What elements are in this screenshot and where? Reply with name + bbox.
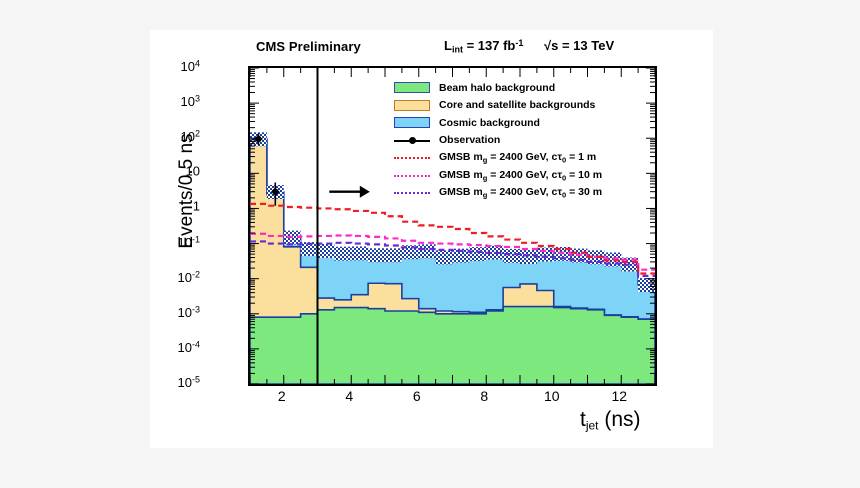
observation-point: [272, 188, 278, 194]
legend-swatch: [394, 117, 430, 128]
y-tick-label: 1: [193, 199, 200, 214]
y-tick-label: 10-4: [178, 339, 200, 355]
x-axis-title-sub: jet: [586, 419, 599, 433]
legend-item[interactable]: Cosmic background: [394, 114, 652, 132]
y-axis-title: Events/0.5 ns: [176, 91, 198, 291]
legend-item[interactable]: Beam halo background: [394, 79, 652, 97]
uncertainty-bin: [351, 246, 368, 260]
legend-item[interactable]: Observation: [394, 132, 652, 150]
uncertainty-bin: [334, 247, 351, 261]
legend-label: Cosmic background: [439, 117, 540, 129]
arrow-head: [360, 186, 370, 198]
uncertainty-bin: [469, 247, 486, 261]
y-tick-label: 10-3: [178, 304, 200, 320]
legend-marker-icon: [394, 135, 430, 146]
uncertainty-bin: [318, 244, 335, 258]
legend-dashed-line-icon: [394, 170, 430, 181]
x-tick-label: 12: [611, 388, 627, 404]
legend: Beam halo backgroundCore and satellite b…: [394, 79, 652, 202]
legend-label: Core and satellite backgrounds: [439, 99, 595, 111]
x-tick-label: 6: [413, 388, 421, 404]
y-tick-label: 103: [181, 93, 200, 109]
legend-label: Observation: [439, 134, 500, 146]
luminosity-label: Lint = 137 fb-1: [444, 38, 523, 54]
lumi-superscript: -1: [515, 38, 523, 48]
y-tick-label: 10-2: [178, 269, 200, 285]
x-tick-label: 4: [345, 388, 353, 404]
x-axis-title: tjet (ns): [580, 408, 641, 433]
legend-item[interactable]: GMSB mg = 2400 GeV, cτ0 = 30 m: [394, 184, 652, 202]
legend-dashed-line-icon: [394, 187, 430, 198]
energy-label: √s = 13 TeV: [544, 38, 614, 53]
lumi-prefix: L: [444, 38, 452, 53]
lumi-value: = 137 fb: [463, 38, 515, 53]
legend-swatch: [394, 82, 430, 93]
legend-label: GMSB mg = 2400 GeV, cτ0 = 30 m: [439, 186, 602, 199]
beam-halo-background-area: [250, 307, 655, 384]
x-axis-title-unit: (ns): [599, 408, 641, 431]
y-tick-label: 104: [181, 58, 200, 74]
uncertainty-bin: [520, 250, 537, 264]
y-tick-label: 10-1: [178, 234, 200, 250]
legend-label: GMSB mg = 2400 GeV, cτ0 = 1 m: [439, 151, 596, 164]
uncertainty-bin: [503, 249, 520, 263]
y-tick-label: 10: [186, 164, 200, 179]
legend-swatch: [394, 100, 430, 111]
uncertainty-bin: [436, 250, 453, 264]
uncertainty-bin: [385, 248, 402, 262]
legend-item[interactable]: GMSB mg = 2400 GeV, cτ0 = 1 m: [394, 149, 652, 167]
uncertainty-bin: [419, 244, 436, 258]
uncertainty-bin: [537, 248, 554, 262]
plot-canvas: CMS Preliminary Lint = 137 fb-1 √s = 13 …: [150, 30, 713, 448]
legend-label: Beam halo background: [439, 82, 555, 94]
legend-label: GMSB mg = 2400 GeV, cτ0 = 10 m: [439, 169, 602, 182]
x-tick-label: 10: [544, 388, 560, 404]
observation-point: [255, 136, 261, 142]
x-tick-label: 2: [278, 388, 286, 404]
lumi-subscript: int: [452, 44, 463, 54]
legend-dashed-line-icon: [394, 152, 430, 163]
y-tick-label: 10-5: [178, 374, 200, 390]
legend-item[interactable]: Core and satellite backgrounds: [394, 97, 652, 115]
uncertainty-bin: [368, 248, 385, 262]
legend-item[interactable]: GMSB mg = 2400 GeV, cτ0 = 10 m: [394, 167, 652, 185]
y-tick-label: 102: [181, 128, 200, 144]
x-tick-label: 8: [480, 388, 488, 404]
cms-preliminary-label: CMS Preliminary: [256, 39, 361, 54]
